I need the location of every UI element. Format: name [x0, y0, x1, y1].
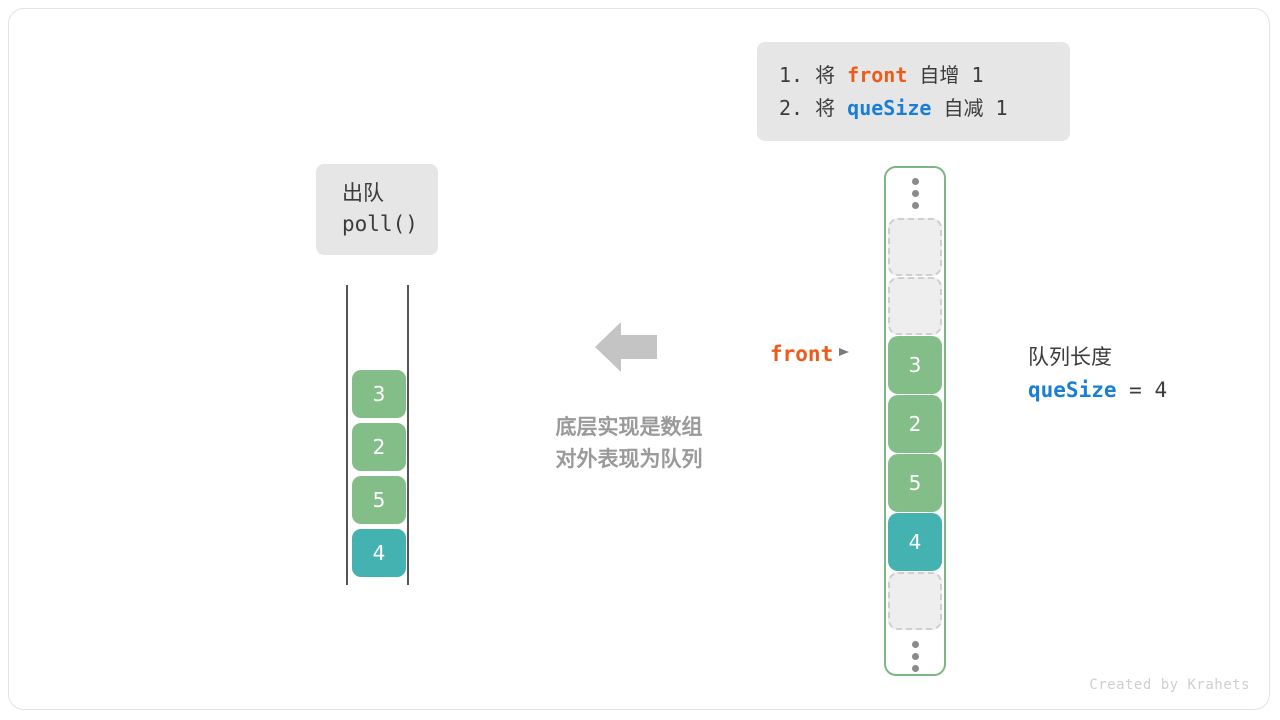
- diagram-canvas: 1. 将 front 自增 1 2. 将 queSize 自减 1 出队 pol…: [0, 0, 1280, 720]
- ellipsis-dots-icon-bottom: [912, 631, 919, 681]
- dot: [912, 202, 919, 209]
- array-cell-empty: [888, 277, 942, 335]
- quesize-equals: =: [1117, 378, 1155, 402]
- array-cell-empty: [888, 218, 942, 276]
- dot: [912, 190, 919, 197]
- instruction-line-2-suffix: 自减 1: [931, 96, 1007, 120]
- array-cell: 2: [888, 395, 942, 453]
- left-queue-cell: 2: [352, 423, 406, 471]
- left-queue-cell: 3: [352, 370, 406, 418]
- queue-wall-right: [407, 285, 409, 585]
- front-keyword: front: [847, 63, 907, 87]
- left-queue-cells: 3 2 5 4: [352, 370, 406, 585]
- instruction-line-2: 2. 将 queSize 自减 1: [779, 92, 1048, 125]
- array-cell: 3: [888, 336, 942, 394]
- dot: [912, 653, 919, 660]
- array-container: 3 2 5 4: [884, 166, 946, 676]
- left-arrow-icon: [595, 322, 657, 372]
- center-caption-line-2: 对外表现为队列: [529, 443, 729, 475]
- array-cell: 4: [888, 513, 942, 571]
- array-cell: 5: [888, 454, 942, 512]
- poll-label-box: 出队 poll(): [316, 164, 438, 255]
- pointer-arrow-icon: [839, 345, 851, 363]
- center-caption-line-1: 底层实现是数组: [529, 411, 729, 443]
- instruction-box: 1. 将 front 自增 1 2. 将 queSize 自减 1: [757, 42, 1070, 141]
- left-queue: 3 2 5 4: [340, 285, 420, 585]
- quesize-label: 队列长度 queSize = 4: [1028, 341, 1167, 407]
- array-cell-empty: [888, 572, 942, 630]
- front-pointer: front: [770, 342, 851, 366]
- instruction-line-1-suffix: 自增 1: [907, 63, 983, 87]
- quesize-var-name: queSize: [1028, 378, 1117, 402]
- front-pointer-label: front: [770, 342, 833, 366]
- center-caption: 底层实现是数组 对外表现为队列: [529, 411, 729, 475]
- dot: [912, 641, 919, 648]
- queue-wall-left: [346, 285, 348, 585]
- credit-text: Created by Krahets: [1089, 677, 1250, 693]
- quesize-value: 4: [1154, 378, 1167, 402]
- instruction-line-1-prefix: 1. 将: [779, 63, 847, 87]
- left-queue-cell: 5: [352, 476, 406, 524]
- dot: [912, 665, 919, 672]
- dot: [912, 178, 919, 185]
- left-queue-cell: 4: [352, 529, 406, 577]
- ellipsis-dots-icon-top: [912, 168, 919, 218]
- poll-code: poll(): [342, 209, 438, 240]
- quesize-title: 队列长度: [1028, 341, 1167, 374]
- quesize-expression: queSize = 4: [1028, 374, 1167, 407]
- instruction-line-1: 1. 将 front 自增 1: [779, 59, 1048, 92]
- instruction-line-2-prefix: 2. 将: [779, 96, 847, 120]
- quesize-keyword: queSize: [847, 96, 931, 120]
- poll-title: 出队: [342, 178, 438, 209]
